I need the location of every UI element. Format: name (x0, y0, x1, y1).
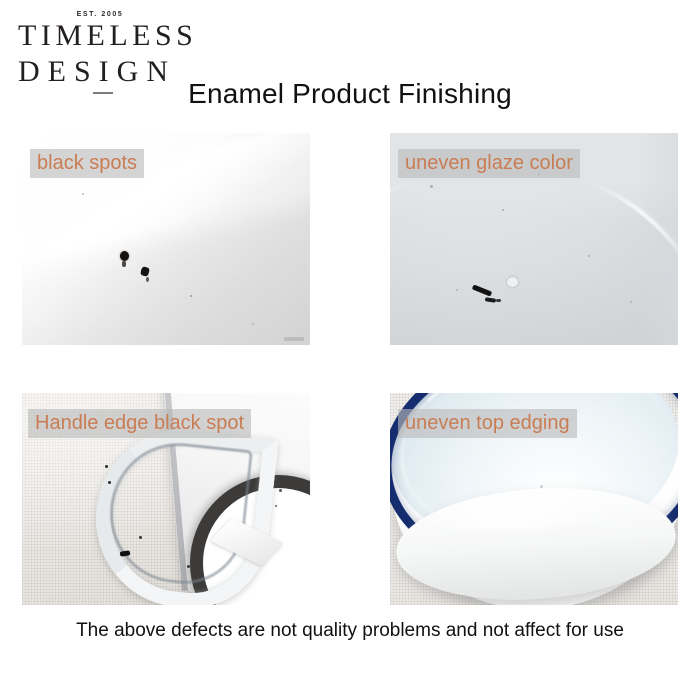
gallery-item-black-spots[interactable]: black spots (22, 133, 310, 345)
bowl-right-mask (638, 133, 678, 345)
gallery-caption-uneven-glaze-color: uneven glaze color (398, 149, 580, 178)
bowl-surface-dot (540, 485, 543, 488)
body-fleck-2 (275, 505, 277, 507)
photo-watermark (284, 337, 304, 341)
page-title: Enamel Product Finishing (0, 78, 700, 110)
defect-dark-mark-tertiary (496, 299, 501, 302)
glaze-dust-6 (456, 289, 458, 291)
defect-black-spot-primary-tail (122, 261, 126, 267)
gallery-item-handle-edge-black-spot[interactable]: Handle edge black spot (22, 393, 310, 605)
brand-logo: EST. 2005 TIMELESS DESIGN (14, 10, 244, 82)
gallery-caption-uneven-top-edging: uneven top edging (398, 409, 577, 438)
glaze-dust-4 (630, 301, 632, 303)
gallery-caption-black-spots: black spots (30, 149, 144, 178)
defect-photo-grid: black spots uneven glaze color (22, 133, 678, 605)
defect-black-spot-secondary-tail (146, 277, 149, 282)
surface-fleck-1 (190, 295, 192, 297)
glaze-dust-5 (502, 209, 504, 211)
brand-name-line-1: TIMELESS (18, 21, 244, 51)
surface-fleck-2 (82, 193, 84, 195)
handle-fleck-4 (187, 565, 190, 568)
brand-established-text: EST. 2005 (20, 10, 180, 19)
handle-fleck-2 (108, 481, 111, 484)
handle-fleck-3 (139, 536, 142, 539)
gallery-item-uneven-glaze-color[interactable]: uneven glaze color (390, 133, 678, 345)
gallery-caption-handle-edge-black-spot: Handle edge black spot (28, 409, 251, 438)
surface-fleck-3 (252, 323, 254, 325)
defect-black-spot-primary (120, 251, 129, 261)
glaze-dust-3 (588, 255, 590, 257)
body-fleck-1 (279, 489, 282, 492)
glaze-nub (507, 277, 518, 287)
gallery-item-uneven-top-edging[interactable]: uneven top edging (390, 393, 678, 605)
glaze-dust-1 (430, 185, 433, 188)
footer-disclaimer: The above defects are not quality proble… (0, 620, 700, 642)
handle-fleck-1 (105, 465, 108, 468)
